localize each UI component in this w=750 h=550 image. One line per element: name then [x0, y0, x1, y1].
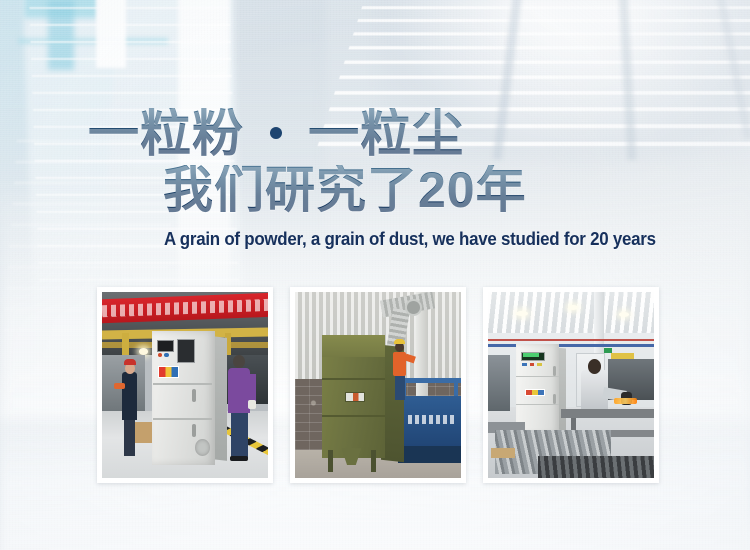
headline-subtitle: A grain of powder, a grain of dust, we h…: [164, 229, 656, 250]
headline-line-1: 一粒粉一粒尘: [88, 108, 464, 159]
headline-line-2: 我们研究了20年: [163, 165, 527, 215]
p2-collector-leg-1: [328, 450, 333, 472]
p2-collector-seam-2: [322, 415, 385, 417]
photo-frame-2[interactable]: [290, 287, 466, 483]
p1-worker-2-shoes: [230, 456, 248, 462]
p3-door-seam-1: [516, 376, 559, 378]
headline-line-1-part-1: 一粒粉: [88, 105, 244, 162]
p1-control-display: [157, 340, 174, 351]
p1-door-seam-2: [153, 418, 211, 420]
p2-collector-leg-2: [371, 450, 376, 472]
p1-door-handle-2: [192, 424, 196, 437]
p1-worker-2-legs: [231, 411, 248, 459]
separator-dot-icon: [270, 127, 282, 139]
p3-ceiling-lamp-2: [568, 305, 578, 310]
photo-frame-1[interactable]: [97, 287, 273, 483]
p3-red-pipe: [488, 339, 654, 342]
p2-nameplate: [345, 392, 365, 401]
p2-scissor-lift-rail: [400, 378, 461, 384]
p2-collector-top-hood: [322, 335, 385, 357]
p3-door-handle-2: [553, 394, 556, 403]
p3-worker-head: [588, 359, 601, 374]
p3-control-button-yellow: [537, 363, 542, 367]
p1-door-handle-1: [192, 389, 196, 402]
p1-worker-2-purple-shirt: [228, 368, 250, 413]
p2-worker-legs: [395, 374, 405, 400]
p1-control-panel: [177, 339, 196, 363]
photo-frame-3[interactable]: [483, 287, 659, 483]
p3-yellow-guard: [611, 353, 634, 359]
p3-control-button-blue: [522, 363, 527, 367]
p3-control-button-red: [530, 363, 535, 367]
photo-grey-dust-collector-production-line: [488, 292, 654, 478]
p1-worker-1-navy-uniform: [122, 372, 137, 420]
p3-door-seam-2: [516, 404, 559, 406]
p3-machine-left: [488, 355, 510, 411]
p3-weld-sparks: [614, 398, 637, 404]
p3-work-bench-top: [561, 409, 654, 418]
p2-worker-orange-vest: [393, 352, 406, 376]
p1-cardboard-box: [134, 422, 152, 442]
photo-white-dust-collector-factory: [102, 292, 268, 478]
headline-line-1-part-2: 一粒尘: [308, 105, 464, 162]
p2-collector-seam-1: [322, 378, 385, 380]
p1-door-seam-1: [153, 383, 211, 385]
p3-metal-bars-dark: [538, 456, 654, 478]
p2-scissor-lift-branding: [408, 415, 454, 424]
p1-inlet-port: [195, 439, 210, 456]
p2-scissor-lift-base: [398, 446, 461, 463]
p3-display-readout: [523, 353, 540, 357]
p1-worker-1-legs: [124, 418, 136, 455]
p3-wood-plank: [491, 448, 514, 457]
p3-blue-pipe: [488, 344, 654, 347]
p3-brand-label: [525, 389, 545, 397]
p1-brand-label: [158, 366, 178, 377]
p1-worker-2-head: [233, 355, 245, 368]
photo-green-dust-collector-workshop: [295, 292, 461, 478]
p3-ceiling-lamp-1: [516, 311, 528, 317]
p1-banner-text: [103, 299, 268, 317]
photo-gallery: [97, 287, 659, 483]
p3-ceiling-slats: [488, 292, 654, 333]
p2-worker-hard-hat: [394, 339, 405, 345]
p1-worker-1-red-cap: [124, 359, 136, 365]
p3-door-handle-1: [553, 366, 556, 375]
p1-worker-1-arm: [114, 383, 126, 389]
promo-banner: 一粒粉一粒尘 我们研究了20年 A grain of powder, a gra…: [0, 0, 750, 550]
p1-worker-2-glove: [248, 400, 256, 409]
